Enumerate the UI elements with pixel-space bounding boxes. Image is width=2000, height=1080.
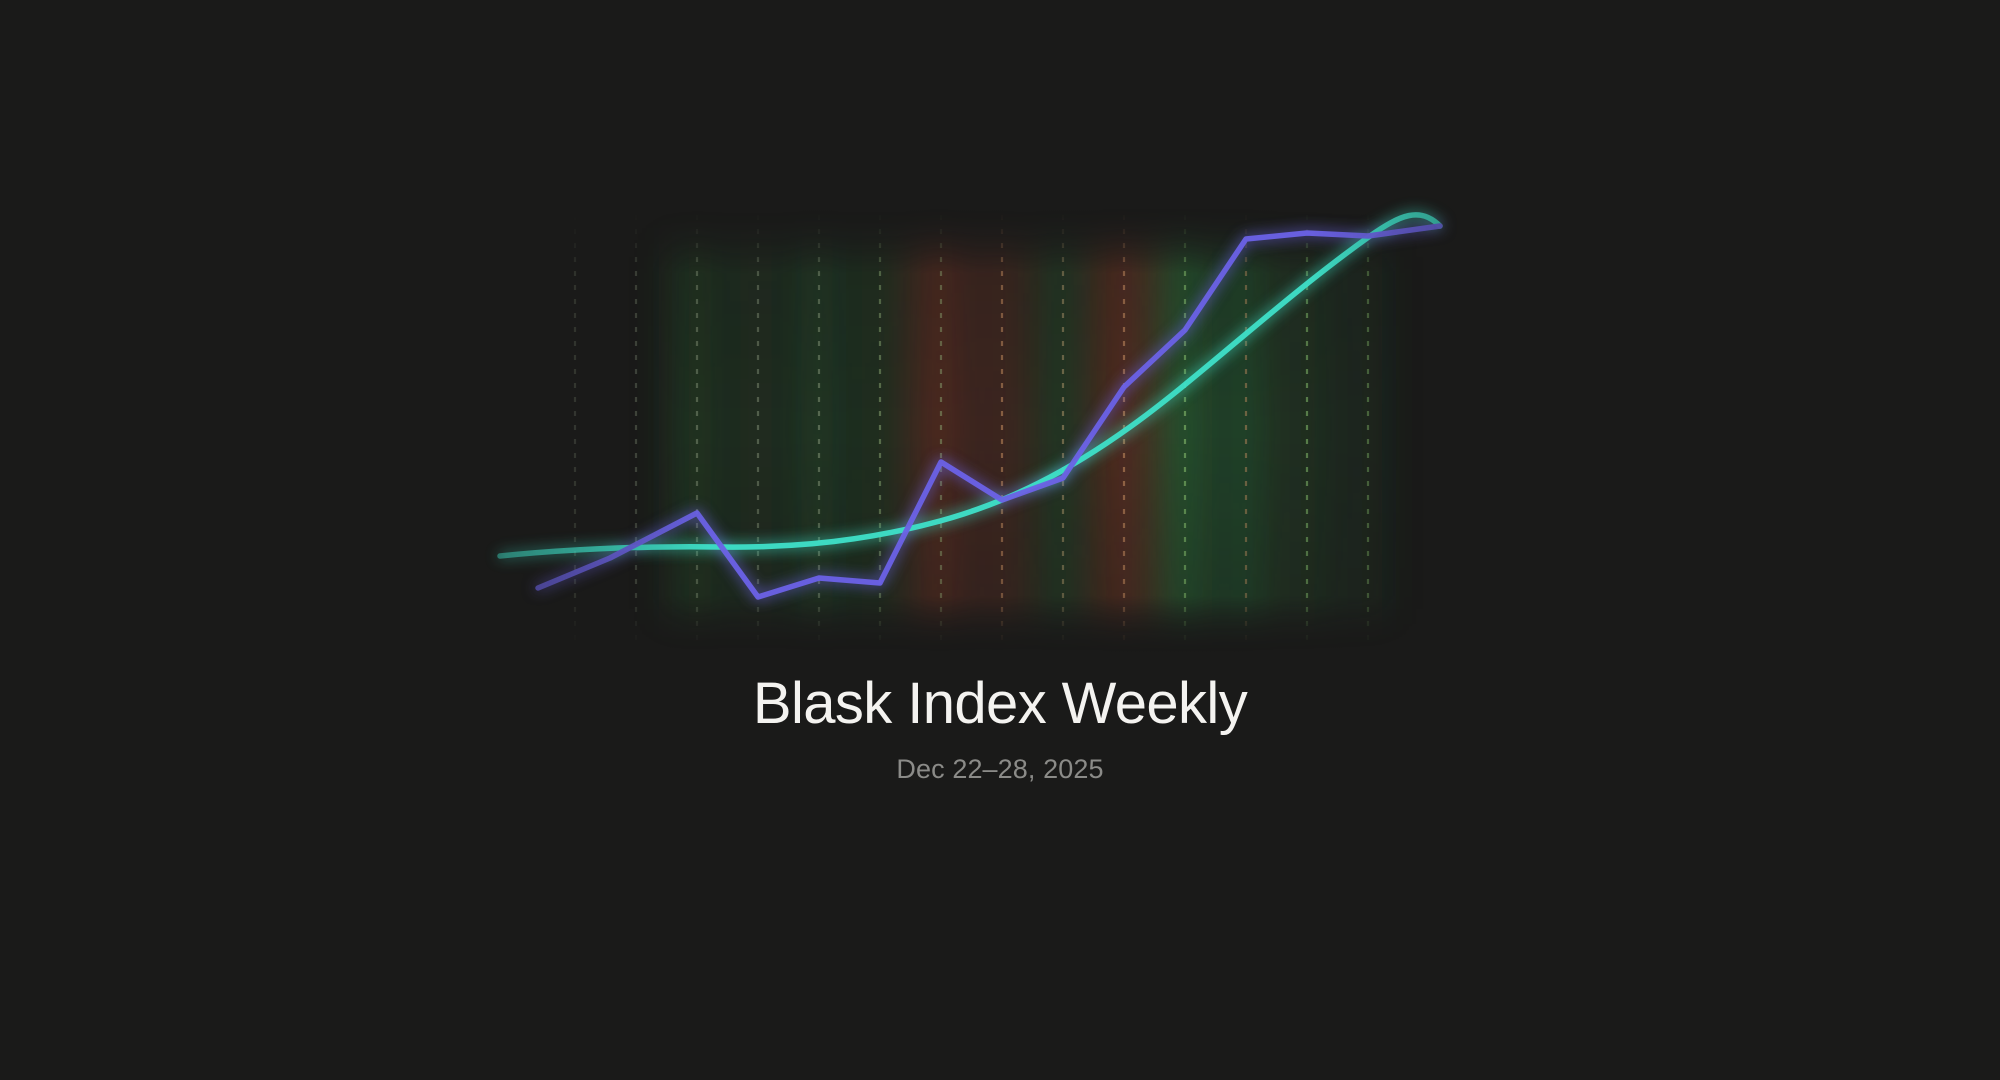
hero-caption: Blask Index Weekly Dec 22–28, 2025	[0, 672, 2000, 785]
chart-hero	[0, 0, 2000, 1080]
chart-glow-bands	[672, 215, 1383, 645]
page-title: Blask Index Weekly	[0, 672, 2000, 737]
index-chart	[0, 0, 2000, 1080]
hero-banner: Blask Index Weekly Dec 22–28, 2025	[0, 0, 2000, 1080]
date-range-label: Dec 22–28, 2025	[0, 753, 2000, 785]
